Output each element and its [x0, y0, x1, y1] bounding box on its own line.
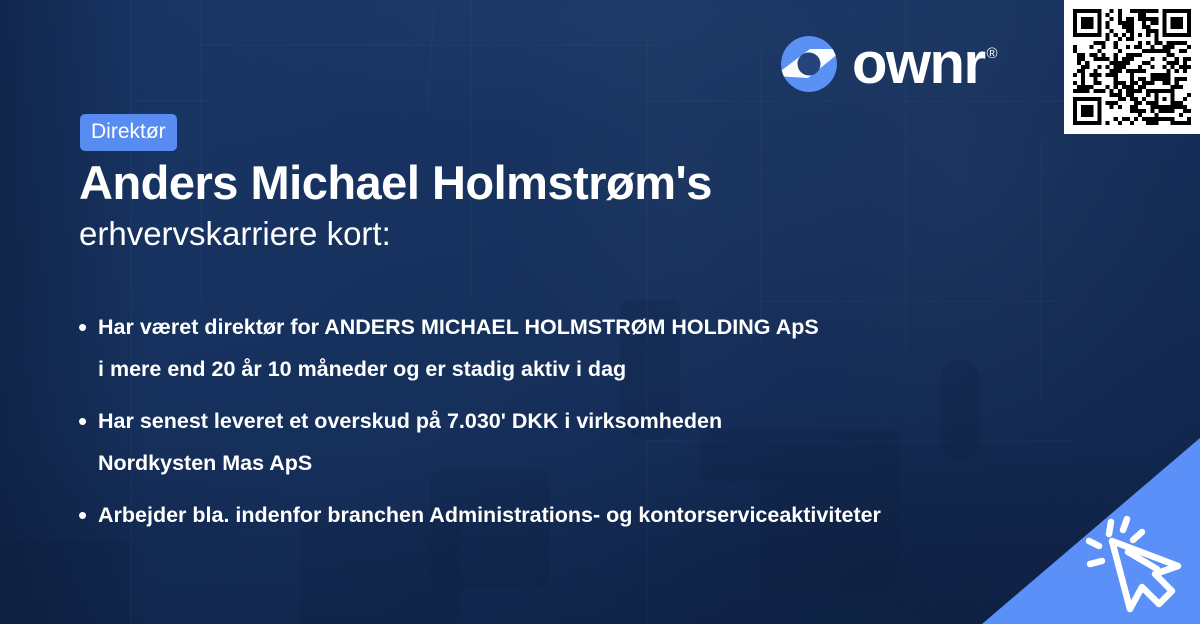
list-item-line: Har senest leveret et overskud på 7.030'…: [98, 406, 1078, 436]
page-subtitle: erhvervskarriere kort:: [79, 215, 391, 253]
list-item-body: Arbejder bla. indenfor branchen Administ…: [98, 500, 1078, 530]
list-item-body: Har senest leveret et overskud på 7.030'…: [98, 406, 1078, 478]
role-badge: Direktør: [80, 114, 177, 151]
ownr-circle-swoosh-icon: [780, 35, 838, 93]
registered-trademark-icon: ®: [987, 46, 998, 61]
list-item: •Har været direktør for ANDERS MICHAEL H…: [78, 312, 1078, 384]
list-item-body: Har været direktør for ANDERS MICHAEL HO…: [98, 312, 1078, 384]
list-item: •Arbejder bla. indenfor branchen Adminis…: [78, 500, 1078, 530]
list-item-line: Arbejder bla. indenfor branchen Administ…: [98, 500, 1078, 530]
ownr-wordmark: ownr ®: [852, 37, 998, 90]
list-item-line: Har været direktør for ANDERS MICHAEL HO…: [98, 312, 1078, 342]
click-cursor-icon: [1086, 508, 1194, 620]
career-card: ownr ® Direktør Anders Michael Holmstrøm…: [0, 0, 1200, 624]
bullet-dot-icon: •: [78, 500, 98, 530]
bullet-dot-icon: •: [78, 312, 98, 342]
list-item: •Har senest leveret et overskud på 7.030…: [78, 406, 1078, 478]
bullet-dot-icon: •: [78, 406, 98, 436]
page-title: Anders Michael Holmstrøm's: [79, 155, 712, 210]
ownr-logo: ownr ®: [780, 33, 998, 95]
qr-code[interactable]: [1064, 0, 1200, 134]
career-highlights-list: •Har været direktør for ANDERS MICHAEL H…: [78, 312, 1078, 552]
list-item-line: i mere end 20 år 10 måneder og er stadig…: [98, 354, 1078, 384]
ownr-wordmark-text: ownr: [852, 37, 985, 90]
list-item-line: Nordkysten Mas ApS: [98, 448, 1078, 478]
qr-code-canvas: [1073, 9, 1191, 125]
